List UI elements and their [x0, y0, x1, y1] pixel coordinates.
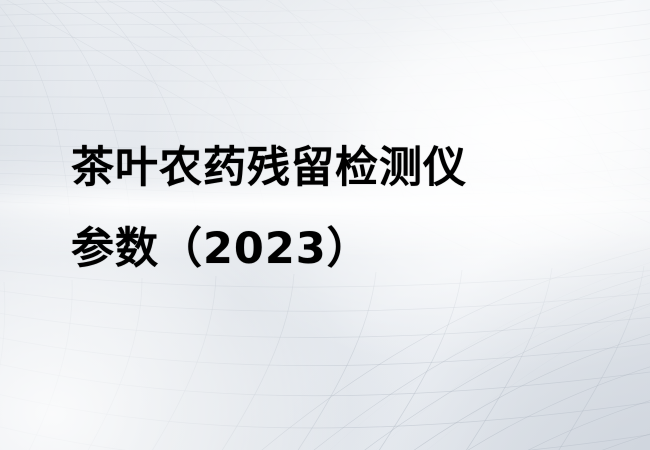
slide-canvas: 茶叶农药残留检测仪 参数（2023）	[0, 0, 650, 450]
slide-title: 茶叶农药残留检测仪 参数（2023）	[71, 128, 631, 290]
slide-title-line-1: 茶叶农药残留检测仪	[71, 128, 631, 209]
slide-title-line-2: 参数（2023）	[71, 209, 631, 290]
